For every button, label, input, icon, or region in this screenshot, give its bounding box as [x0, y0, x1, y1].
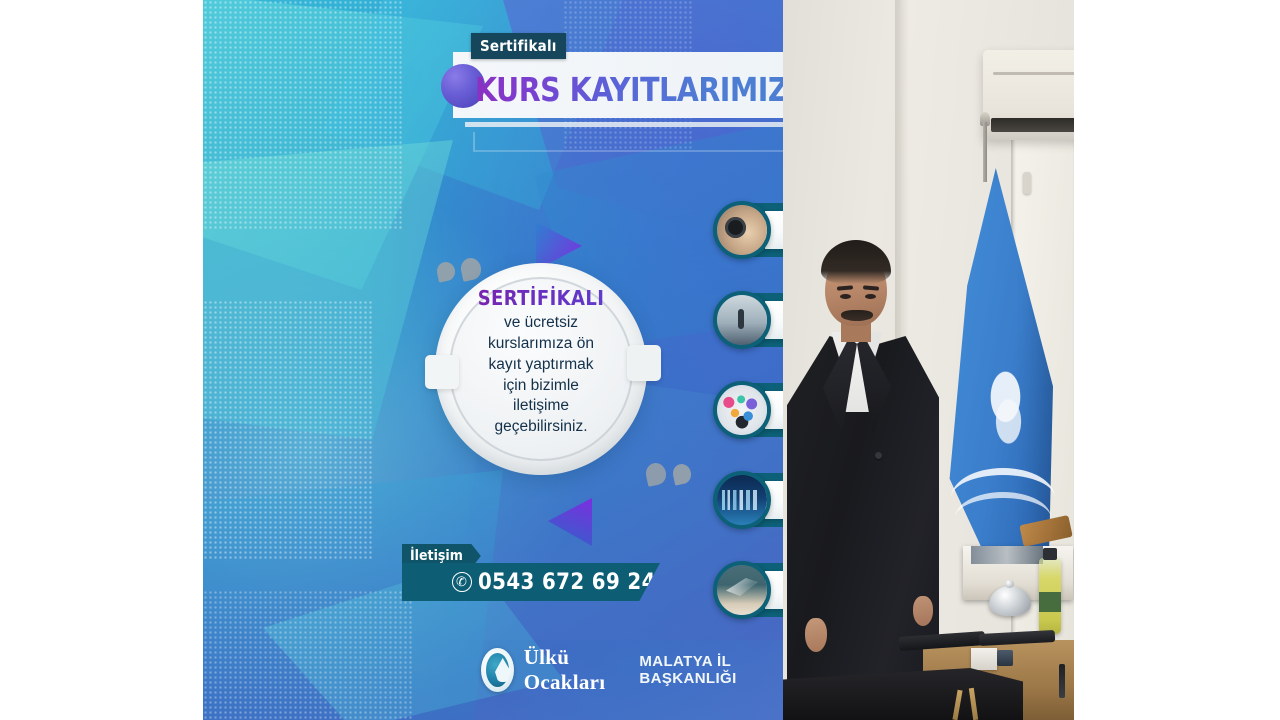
air-conditioner-seam [993, 72, 1074, 75]
info-circle-tab-right [627, 345, 661, 381]
hand [913, 596, 933, 626]
mobile-phone [997, 650, 1013, 666]
teapot-knob [1005, 580, 1014, 588]
course-announcement-poster: KURS KAYITLARIMIZ BAŞLADI! Sertifikalı S… [203, 0, 783, 720]
info-line: geçebilirsiniz. [453, 417, 629, 438]
person-photograph [783, 0, 1074, 720]
organization-footer: Ülkü Ocakları MALATYA İL BAŞKANLIĞI [481, 645, 783, 695]
ulku-ocaklari-logo-icon [481, 648, 514, 692]
flag-pole [983, 122, 987, 182]
air-conditioner-vent [991, 118, 1074, 132]
suit-button [875, 452, 882, 459]
info-line: kayıt yaptırmak [453, 355, 629, 376]
info-circle: SERTİFİKALI ve ücretsiz kurslarımıza ön … [435, 263, 647, 475]
screenshot-canvas: KURS KAYITLARIMIZ BAŞLADI! Sertifikalı S… [0, 0, 1280, 720]
hand [805, 618, 827, 652]
pen [1059, 664, 1065, 698]
course-list-item: Emlak Danışmanlığı [713, 473, 783, 527]
entrepreneurship-icon [713, 381, 771, 439]
real-estate-icon [713, 471, 771, 529]
decorative-outline [473, 132, 783, 152]
course-list: Din Eğitimi Diksiyon ve Hitabet Girişimc… [713, 203, 783, 653]
info-circle-body: ve ücretsiz kurslarımıza ön kayıt yaptır… [453, 313, 629, 438]
silver-teapot [989, 586, 1031, 616]
eye [840, 294, 851, 299]
english-class-icon [713, 561, 771, 619]
course-list-item: İngilizce (A1) [713, 563, 783, 617]
organization-name: Ülkü Ocakları [524, 645, 623, 695]
bottle-label [1039, 592, 1061, 612]
magazine-cover [971, 546, 1043, 564]
info-line: için bizimle [453, 376, 629, 397]
info-circle-title: SERTİFİKALI [453, 285, 629, 311]
course-list-item: Din Eğitimi [713, 203, 783, 257]
organization-branch: MALATYA İL BAŞKANLIĞI [639, 653, 783, 687]
door-latch [1023, 172, 1031, 194]
poster-headline: KURS KAYITLARIMIZ BAŞLADI! [475, 70, 783, 112]
course-list-item: Girişimcilik [713, 383, 783, 437]
bottle-cap [1043, 548, 1057, 560]
flag-emblem [969, 352, 1045, 464]
public-speaking-icon [713, 291, 771, 349]
small-box [971, 648, 997, 670]
eye [865, 294, 876, 299]
phone-icon [452, 572, 472, 592]
course-list-item: Diksiyon ve Hitabet [713, 293, 783, 347]
info-circle-content: SERTİFİKALI ve ücretsiz kurslarımıza ön … [453, 285, 629, 438]
mustache [841, 310, 873, 321]
religion-icon [713, 201, 771, 259]
certified-tag: Sertifikalı [471, 33, 566, 59]
info-line: kurslarımıza ön [453, 334, 629, 355]
contact-bar: 0543 672 69 24 [402, 563, 660, 601]
info-line: ve ücretsiz [453, 313, 629, 334]
background-facet [203, 140, 453, 440]
info-line: iletişime [453, 396, 629, 417]
headline-underline [465, 122, 783, 127]
contact-phone-number: 0543 672 69 24 [478, 570, 656, 595]
